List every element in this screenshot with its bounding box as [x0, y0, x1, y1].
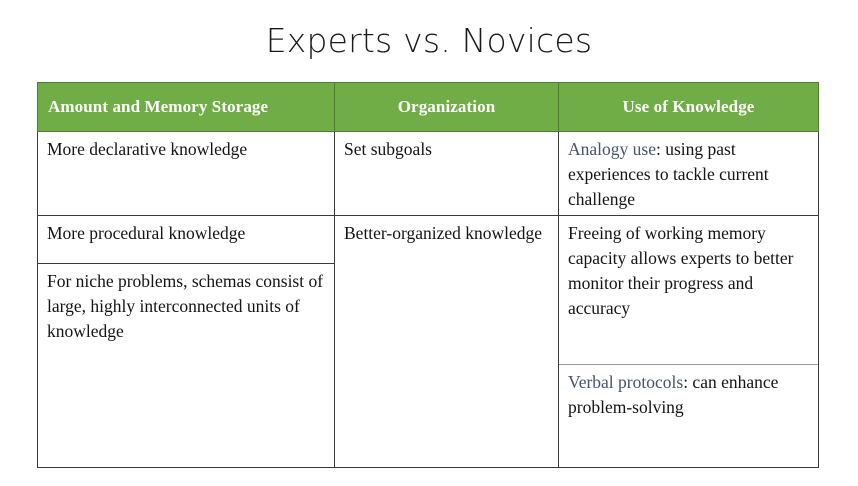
cell-use-2-text: Freeing of working memory capacity allow…: [568, 223, 793, 318]
cell-use-1: Analogy use: using past experiences to t…: [559, 132, 818, 215]
cell-use-3: Verbal protocols: can enhance problem-so…: [559, 364, 818, 425]
table-cell-amount-column: More declarative knowledge More procedur…: [38, 132, 335, 468]
page-title: Experts vs. Novices: [0, 18, 858, 64]
column-header-use-of-knowledge: Use of Knowledge: [559, 83, 819, 132]
slide-canvas: Experts vs. Novices Amount and Memory St…: [0, 0, 858, 486]
table-cell-use-of-knowledge-column: Analogy use: using past experiences to t…: [559, 132, 819, 468]
cell-amount-1: More declarative knowledge: [38, 132, 334, 215]
table-header: Amount and Memory Storage Organization U…: [38, 83, 819, 132]
comparison-table-wrapper: Amount and Memory Storage Organization U…: [37, 82, 818, 468]
table-row: More declarative knowledge More procedur…: [38, 132, 819, 468]
column-header-organization: Organization: [335, 83, 559, 132]
amount-cell-stack: More declarative knowledge More procedur…: [38, 132, 334, 467]
cell-organization-2: Better-organized knowledge: [335, 215, 558, 251]
organization-cell-stack: Set subgoals Better-organized knowledge: [335, 132, 558, 467]
comparison-table: Amount and Memory Storage Organization U…: [37, 82, 819, 468]
cell-amount-3: For niche problems, schemas consist of l…: [38, 263, 334, 349]
column-header-amount-and-memory-storage: Amount and Memory Storage: [38, 83, 335, 132]
cell-use-2: Freeing of working memory capacity allow…: [559, 215, 818, 364]
cell-use-1-accent: Analogy use: [568, 139, 656, 159]
cell-use-3-accent: Verbal protocols: [568, 372, 683, 392]
table-header-row: Amount and Memory Storage Organization U…: [38, 83, 819, 132]
table-cell-organization-column: Set subgoals Better-organized knowledge: [335, 132, 559, 468]
cell-amount-2: More procedural knowledge: [38, 215, 334, 263]
table-body: More declarative knowledge More procedur…: [38, 132, 819, 468]
cell-organization-1: Set subgoals: [335, 132, 558, 215]
use-cell-stack: Analogy use: using past experiences to t…: [559, 132, 818, 467]
